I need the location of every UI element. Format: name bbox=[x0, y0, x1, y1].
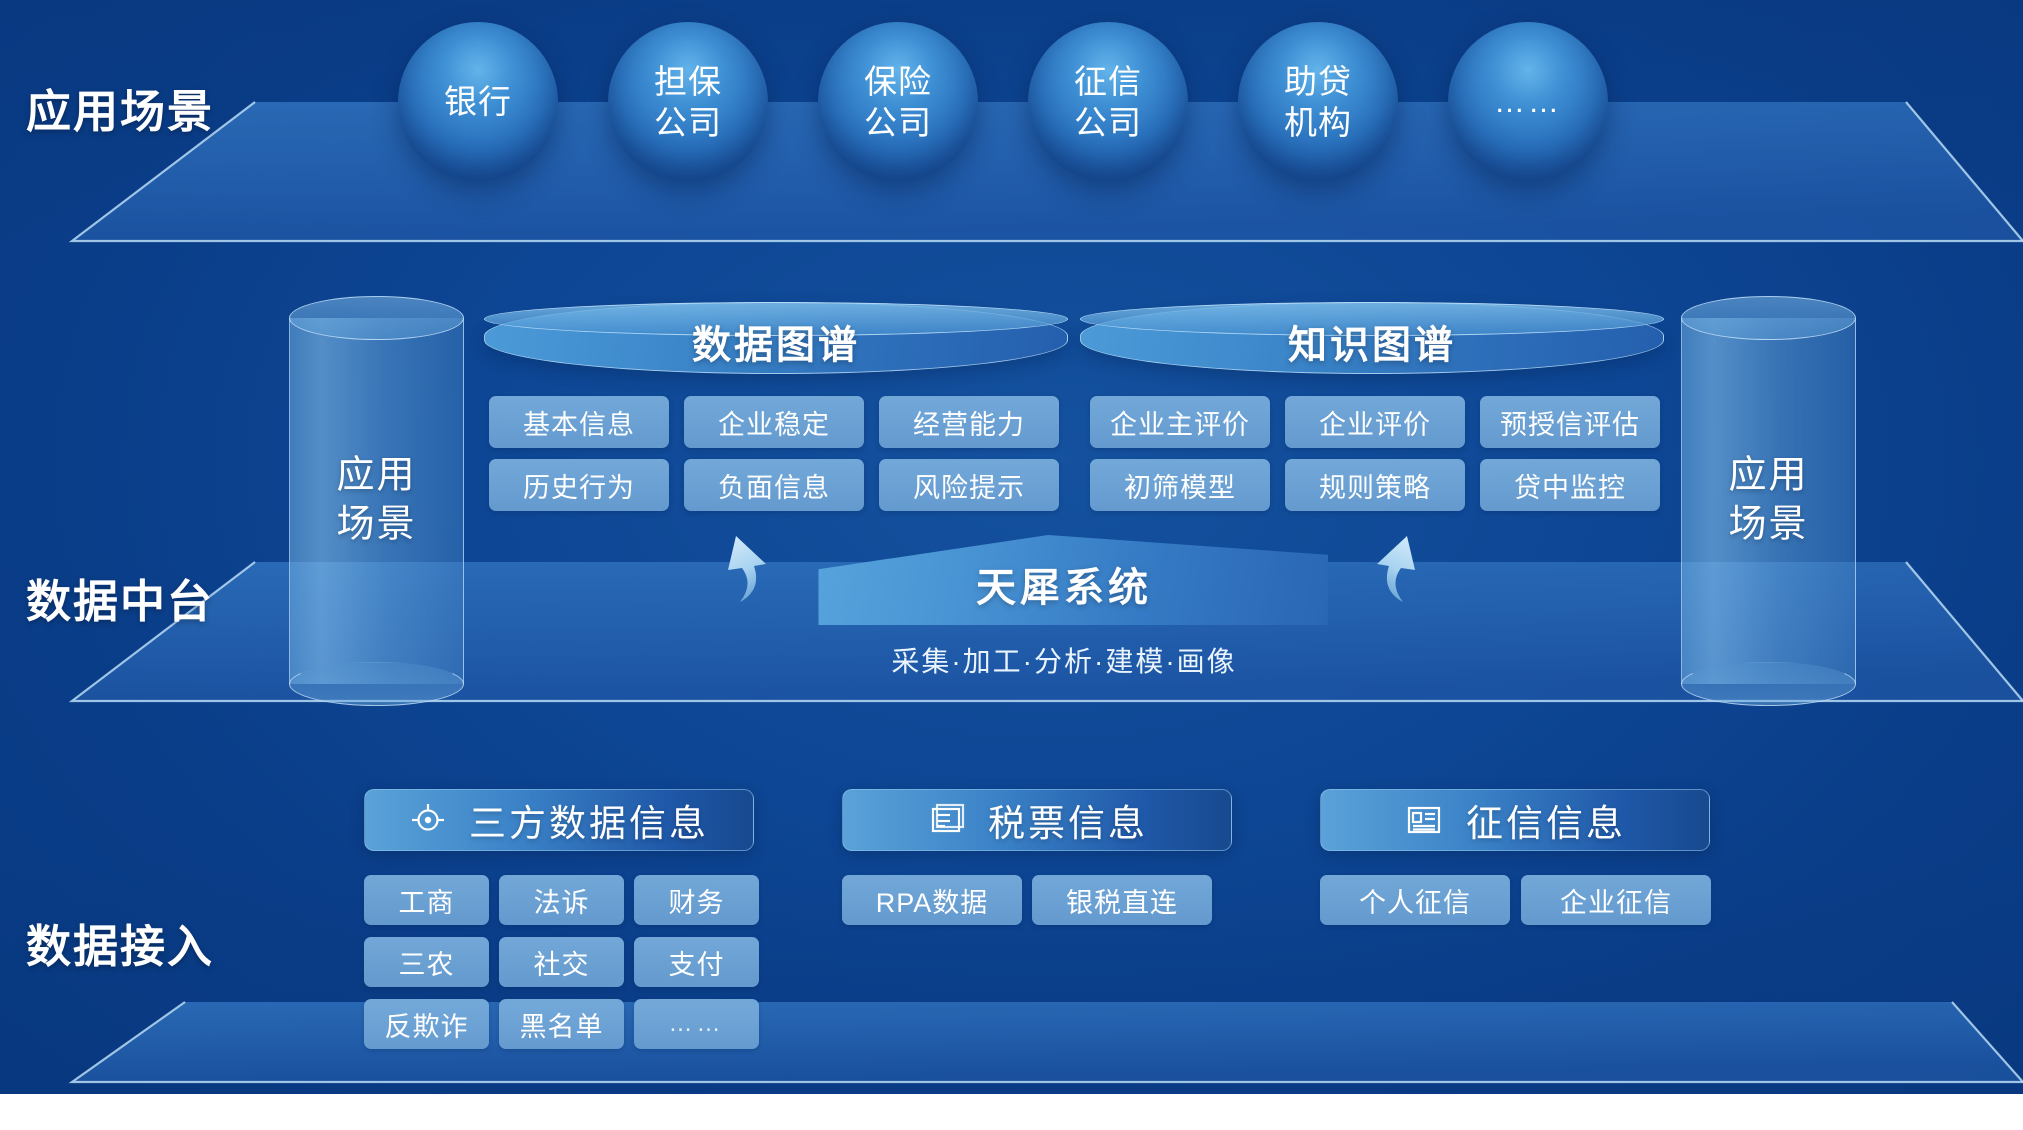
sphere-label: 担保 公司 bbox=[654, 61, 722, 144]
chip-label: RPA数据 bbox=[876, 881, 989, 920]
pill-credit-report[interactable]: 征信信息 bbox=[1320, 789, 1710, 851]
id-card-icon bbox=[1404, 803, 1444, 837]
chip-label: 风险提示 bbox=[913, 466, 1025, 505]
chip-label: 财务 bbox=[669, 881, 725, 920]
tianxi-system-title: 天犀系统 bbox=[800, 555, 1328, 613]
sphere-label: …… bbox=[1494, 83, 1562, 122]
chip-knowledge-graph-1[interactable]: 企业评价 bbox=[1285, 396, 1465, 448]
chip-label: 预授信评估 bbox=[1500, 403, 1640, 442]
chip-tax-1[interactable]: 银税直连 bbox=[1032, 875, 1212, 925]
row-label-midplatform: 数据中台 bbox=[26, 565, 214, 630]
chip-third-party-3[interactable]: 三农 bbox=[364, 937, 489, 987]
sphere-loan-assist[interactable]: 助贷 机构 bbox=[1238, 22, 1398, 182]
chip-label: 企业评价 bbox=[1319, 403, 1431, 442]
chip-label: 三农 bbox=[399, 943, 455, 982]
chip-knowledge-graph-2[interactable]: 预授信评估 bbox=[1480, 396, 1660, 448]
chip-label: 支付 bbox=[669, 943, 725, 982]
cylinder-label: 应用 场景 bbox=[289, 452, 464, 551]
invoice-icon bbox=[926, 802, 966, 838]
chip-label: …… bbox=[669, 1010, 725, 1038]
chip-data-graph-2[interactable]: 经营能力 bbox=[879, 396, 1059, 448]
sphere-bank[interactable]: 银行 bbox=[398, 22, 558, 182]
chip-label: 经营能力 bbox=[913, 403, 1025, 442]
chip-third-party-2[interactable]: 财务 bbox=[634, 875, 759, 925]
arrow-up-right-icon bbox=[1345, 528, 1437, 620]
chip-label: 银税直连 bbox=[1066, 881, 1178, 920]
pill-label: 三方数据信息 bbox=[469, 793, 709, 847]
platform-dataaccess bbox=[0, 1000, 2023, 1090]
chip-label: 规则策略 bbox=[1319, 466, 1431, 505]
chip-label: 个人征信 bbox=[1359, 881, 1471, 920]
cylinder-right-application: 应用 场景 bbox=[1681, 296, 1856, 706]
chip-third-party-4[interactable]: 社交 bbox=[499, 937, 624, 987]
platform-application bbox=[0, 100, 2023, 250]
cylinder-top bbox=[289, 296, 464, 340]
row-label-dataaccess: 数据接入 bbox=[26, 910, 214, 975]
row-label-application: 应用场景 bbox=[26, 75, 214, 140]
chip-label: 历史行为 bbox=[523, 466, 635, 505]
chip-knowledge-graph-5[interactable]: 贷中监控 bbox=[1480, 459, 1660, 511]
disc-title: 数据图谱 bbox=[484, 314, 1068, 370]
sphere-more[interactable]: …… bbox=[1448, 22, 1608, 182]
chip-knowledge-graph-0[interactable]: 企业主评价 bbox=[1090, 396, 1270, 448]
chip-label: 企业征信 bbox=[1560, 881, 1672, 920]
chip-data-graph-1[interactable]: 企业稳定 bbox=[684, 396, 864, 448]
chip-third-party-6[interactable]: 反欺诈 bbox=[364, 999, 489, 1049]
sphere-label: 保险 公司 bbox=[864, 61, 932, 144]
chip-knowledge-graph-3[interactable]: 初筛模型 bbox=[1090, 459, 1270, 511]
chip-credit-1[interactable]: 企业征信 bbox=[1521, 875, 1711, 925]
cylinder-label: 应用 场景 bbox=[1681, 452, 1856, 551]
cylinder-top bbox=[1681, 296, 1856, 340]
sphere-insurance[interactable]: 保险 公司 bbox=[818, 22, 978, 182]
chip-third-party-1[interactable]: 法诉 bbox=[499, 875, 624, 925]
sphere-credit-company[interactable]: 征信 公司 bbox=[1028, 22, 1188, 182]
tianxi-system-subtitle: 采集·加工·分析·建模·画像 bbox=[800, 640, 1328, 680]
sphere-label: 征信 公司 bbox=[1074, 61, 1142, 144]
chip-knowledge-graph-4[interactable]: 规则策略 bbox=[1285, 459, 1465, 511]
crosshair-target-icon bbox=[409, 801, 447, 839]
chip-third-party-0[interactable]: 工商 bbox=[364, 875, 489, 925]
arrow-up-left-icon bbox=[706, 528, 798, 620]
chip-label: 企业稳定 bbox=[718, 403, 830, 442]
chip-data-graph-0[interactable]: 基本信息 bbox=[489, 396, 669, 448]
chip-data-graph-4[interactable]: 负面信息 bbox=[684, 459, 864, 511]
sphere-guarantee[interactable]: 担保 公司 bbox=[608, 22, 768, 182]
chip-third-party-8[interactable]: …… bbox=[634, 999, 759, 1049]
chip-data-graph-5[interactable]: 风险提示 bbox=[879, 459, 1059, 511]
tianxi-system-banner[interactable]: 天犀系统 bbox=[800, 535, 1328, 625]
chip-label: 黑名单 bbox=[520, 1005, 604, 1044]
cylinder-left-application: 应用 场景 bbox=[289, 296, 464, 706]
chip-credit-0[interactable]: 个人征信 bbox=[1320, 875, 1510, 925]
chip-third-party-5[interactable]: 支付 bbox=[634, 937, 759, 987]
chip-label: 法诉 bbox=[534, 881, 590, 920]
pill-third-party-data[interactable]: 三方数据信息 bbox=[364, 789, 754, 851]
sphere-label: 银行 bbox=[444, 81, 512, 122]
chip-label: 反欺诈 bbox=[385, 1005, 469, 1044]
disc-title: 知识图谱 bbox=[1080, 314, 1664, 370]
chip-label: 工商 bbox=[399, 881, 455, 920]
chip-label: 基本信息 bbox=[523, 403, 635, 442]
chip-tax-0[interactable]: RPA数据 bbox=[842, 875, 1022, 925]
pill-label: 税票信息 bbox=[988, 793, 1148, 847]
architecture-diagram: 应用场景 银行 担保 公司 保险 公司 征信 公司 助贷 机构 …… 数据中台 bbox=[0, 0, 2023, 1094]
disc-knowledge-graph: 知识图谱 bbox=[1080, 302, 1664, 374]
chip-label: 贷中监控 bbox=[1514, 466, 1626, 505]
cylinder-bottom bbox=[1681, 662, 1856, 706]
chip-label: 初筛模型 bbox=[1124, 466, 1236, 505]
pill-tax-invoice[interactable]: 税票信息 bbox=[842, 789, 1232, 851]
chip-label: 社交 bbox=[534, 943, 590, 982]
cylinder-bottom bbox=[289, 662, 464, 706]
chip-data-graph-3[interactable]: 历史行为 bbox=[489, 459, 669, 511]
chip-third-party-7[interactable]: 黑名单 bbox=[499, 999, 624, 1049]
disc-data-graph: 数据图谱 bbox=[484, 302, 1068, 374]
chip-label: 企业主评价 bbox=[1110, 403, 1250, 442]
chip-label: 负面信息 bbox=[718, 466, 830, 505]
sphere-label: 助贷 机构 bbox=[1284, 61, 1352, 144]
pill-label: 征信信息 bbox=[1466, 793, 1626, 847]
